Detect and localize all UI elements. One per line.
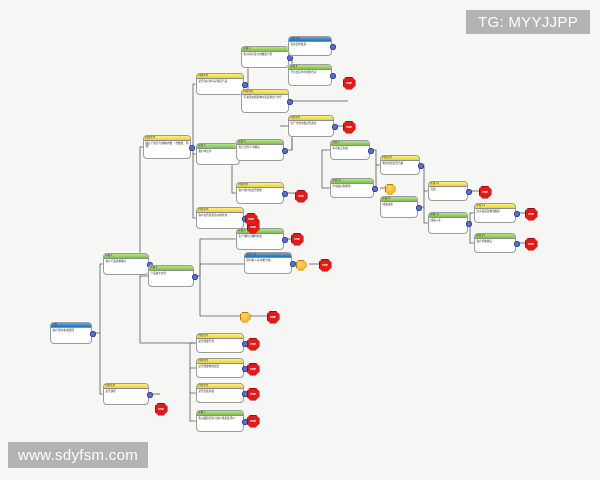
terminator-stop[interactable]: STOP — [247, 338, 260, 351]
flow-node-n24[interactable]: 判断条件检验结果是否合格 — [380, 155, 420, 175]
connection-port[interactable] — [287, 55, 292, 60]
connection-port[interactable] — [290, 261, 295, 266]
flow-node-n21[interactable]: 判断条件生产计划审批是否通过 — [288, 115, 334, 137]
flow-node-n13[interactable]: 步骤 6生产排程与物料准备 — [236, 228, 284, 250]
node-body: 产品技术支持 — [149, 271, 193, 276]
flow-node-n06[interactable]: 判断条件是否为标准库存现货产品 — [196, 73, 244, 95]
connection-port[interactable] — [514, 211, 519, 216]
flow-node-n11[interactable]: 步骤 5签订合同/下单确认 — [236, 139, 284, 161]
connection-port[interactable] — [287, 99, 292, 104]
connection-port[interactable] — [368, 148, 373, 153]
connection-port[interactable] — [282, 148, 287, 153]
connection-port[interactable] — [466, 189, 471, 194]
terminator-stop[interactable]: STOP — [267, 311, 280, 324]
telegram-watermark: TG: MYYJJPP — [466, 10, 590, 34]
terminator-stop[interactable]: STOP — [247, 415, 260, 428]
node-body: 签订合同/下单确认 — [237, 145, 283, 150]
node-body: 是否需要开票 — [197, 339, 243, 344]
flow-node-n03[interactable]: 判断条件是否满足 — [103, 383, 149, 405]
node-body: 是否需要物流配送 — [197, 364, 243, 369]
connection-port[interactable] — [282, 237, 287, 242]
connection-port[interactable] — [416, 205, 421, 210]
node-body: 售后跟踪回访与客户满意度评价 — [197, 416, 243, 421]
flow-node-n25[interactable]: 步骤 11成品总装 — [380, 196, 418, 218]
connection-port[interactable] — [372, 186, 377, 191]
flow-node-n20[interactable]: 步骤 8开具出库单并通知仓库 — [288, 64, 332, 86]
node-body: 客户产品需求确认 — [104, 259, 148, 264]
flow-node-n10[interactable]: 判断条件不满足交期需求时需定制生产排产 — [241, 89, 289, 113]
flow-node-n15[interactable]: 判断条件是否需要开票 — [196, 333, 244, 353]
terminator-stop[interactable]: STOP — [155, 403, 168, 416]
node-body: 检验结果是否合格 — [381, 161, 419, 166]
terminator-stop[interactable]: STOP — [525, 208, 538, 221]
flow-node-n01[interactable]: 开始客户咨询/来电受理 — [50, 322, 92, 344]
connection-port[interactable] — [282, 191, 287, 196]
terminator-stop[interactable]: STOP — [319, 259, 332, 272]
connection-port[interactable] — [189, 145, 194, 150]
node-body: 客户是否接受该价格条款 — [197, 213, 243, 218]
flow-node-n22[interactable]: 步骤 9车间加工制造 — [330, 140, 370, 160]
terminator-stop[interactable]: STOP — [525, 238, 538, 251]
flow-node-n04[interactable]: 判断条件确认产品型号/规格参数 （含数量、预算） — [143, 135, 191, 159]
connection-port[interactable] — [330, 73, 335, 78]
node-body: 确认产品型号/规格参数 （含数量、预算） — [144, 141, 190, 149]
flow-node-n29[interactable]: 步骤 15客户签收确认 — [474, 233, 516, 253]
terminator-stop[interactable]: STOP — [343, 77, 356, 90]
flow-node-n26[interactable]: 步骤 12包装 — [428, 181, 468, 201]
connection-port[interactable] — [242, 82, 247, 87]
flow-node-n02[interactable]: 步骤 1客户产品需求确认 — [103, 253, 149, 275]
flow-node-n28[interactable]: 步骤 14出库发运及物流跟踪 — [474, 203, 516, 223]
node-body: 成品入库 — [429, 218, 467, 223]
flow-node-n19[interactable]: 关键节点直接安排发货 — [288, 36, 332, 56]
connection-port[interactable] — [514, 241, 519, 246]
flow-node-n17[interactable]: 判断条件是否安装调试 — [196, 383, 244, 403]
flow-node-n16[interactable]: 判断条件是否需要物流配送 — [196, 358, 244, 378]
node-body: 是否安装调试 — [197, 389, 243, 394]
node-body: 直接安排发货 — [289, 42, 331, 47]
node-body: 车间加工制造 — [331, 146, 369, 151]
connection-port[interactable] — [330, 44, 335, 49]
connection-port[interactable] — [192, 274, 197, 279]
website-watermark: www.sdyfsm.com — [8, 442, 148, 468]
node-body: 报价单出具 — [197, 149, 239, 154]
node-body: 客户咨询/来电受理 — [51, 328, 91, 333]
flow-node-n18[interactable]: 步骤 7售后跟踪回访与客户满意度评价 — [196, 410, 244, 432]
terminator-stop[interactable]: STOP — [479, 186, 492, 199]
node-body: 出库发运及物流跟踪 — [475, 209, 515, 214]
flow-node-n07[interactable]: 步骤 3报价单出具 — [196, 143, 240, 165]
flow-node-n08[interactable]: 判断条件客户是否接受该价格条款 — [196, 207, 244, 229]
node-body: 核对库存及可用数量产能 — [242, 52, 288, 57]
node-body: 不满足交期需求时需定制生产排产 — [242, 95, 288, 100]
connection-port[interactable] — [90, 331, 95, 336]
terminator-stop[interactable]: STOP — [295, 190, 308, 203]
flow-node-n14[interactable]: 关键节点原材料入库/质检合格 — [244, 252, 292, 274]
node-body: 半成品过程检验 — [331, 184, 373, 189]
connection-port[interactable] — [332, 124, 337, 129]
flow-node-n12[interactable]: 判断条件客户预付款是否到账 — [236, 182, 284, 204]
terminator-stop[interactable]: STOP — [247, 388, 260, 401]
flow-node-n09[interactable]: 步骤 4核对库存及可用数量产能 — [241, 46, 289, 68]
node-body: 开具出库单并通知仓库 — [289, 70, 331, 75]
flow-node-n05[interactable]: 步骤 2产品技术支持 — [148, 265, 194, 287]
node-body: 成品总装 — [381, 202, 417, 207]
terminator-stop[interactable]: STOP — [291, 233, 304, 246]
node-body: 原材料入库/质检合格 — [245, 258, 291, 263]
node-body: 包装 — [429, 187, 467, 192]
node-body: 客户预付款是否到账 — [237, 188, 283, 193]
flow-node-n23[interactable]: 步骤 10半成品过程检验 — [330, 178, 374, 198]
node-body: 是否满足 — [104, 389, 148, 394]
connection-port[interactable] — [147, 392, 152, 397]
node-body: 生产排程与物料准备 — [237, 234, 283, 239]
diagram-canvas: 开始客户咨询/来电受理步骤 1客户产品需求确认判断条件是否满足判断条件确认产品型… — [0, 0, 600, 480]
connection-port[interactable] — [466, 221, 471, 226]
connection-port[interactable] — [418, 163, 423, 168]
terminator-stop[interactable]: STOP — [247, 363, 260, 376]
terminator-stop[interactable]: STOP — [343, 121, 356, 134]
node-body: 生产计划审批是否通过 — [289, 121, 333, 126]
node-body: 是否为标准库存现货产品 — [197, 79, 243, 84]
flow-node-n27[interactable]: 步骤 13成品入库 — [428, 212, 468, 234]
node-body: 客户签收确认 — [475, 239, 515, 244]
